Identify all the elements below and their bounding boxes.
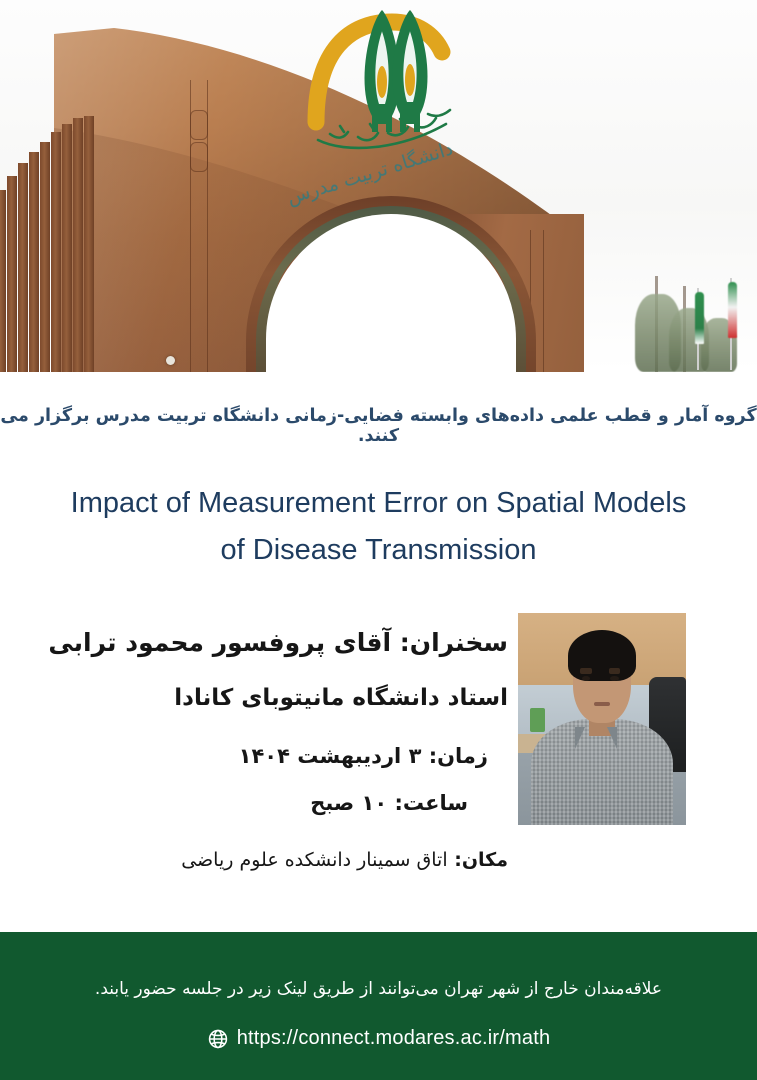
footer-note-text: علاقه‌مندان خارج از شهر تهران می‌توانند … [0,979,757,999]
university-logo-mark [300,6,475,154]
event-place-value: اتاق سمینار دانشکده علوم ریاضی [181,849,447,871]
gate-wall-lamp [166,356,175,365]
speaker-portrait-photo [518,613,686,825]
event-place-label: مکان: [454,849,508,871]
title-line-1: Impact of Measurement Error on Spatial M… [30,480,727,527]
event-time-line: ساعت: ۱۰ صبح [0,791,468,815]
speaker-line: سخنران: آقای پروفسور محمود ترابی [0,628,508,657]
footer-link-row[interactable]: https://connect.modares.ac.ir/math [0,1027,757,1050]
header-banner-image: دانشگاه تربیت مدرس [0,0,757,372]
university-logo: دانشگاه تربیت مدرس [300,6,475,154]
event-date-line: زمان: ۳ اردیبهشت ۱۴۰۴ [0,744,488,768]
globe-icon [207,1028,229,1050]
gate-groove-knot-upper [190,110,208,140]
title-line-2: of Disease Transmission [30,527,727,574]
gate-groove-knot-lower [190,142,208,172]
flag-green-icon [695,292,704,344]
footer-banner: علاقه‌مندان خارج از شهر تهران می‌توانند … [0,932,757,1080]
organizer-intro-line: گروه آمار و قطب علمی داده‌های وابسته فضا… [0,406,757,446]
speaker-affiliation-line: استاد دانشگاه مانیتوبای کانادا [0,685,508,711]
seminar-poster: دانشگاه تربیت مدرس [0,0,757,1080]
gate-stepped-fins [0,116,114,372]
trees-and-flags-scenery [625,252,757,372]
event-place-line: مکان: اتاق سمینار دانشکده علوم ریاضی [0,849,508,871]
page-title: Impact of Measurement Error on Spatial M… [30,480,727,574]
flag-iran-icon [728,282,737,338]
footer-url-link[interactable]: https://connect.modares.ac.ir/math [237,1027,551,1050]
